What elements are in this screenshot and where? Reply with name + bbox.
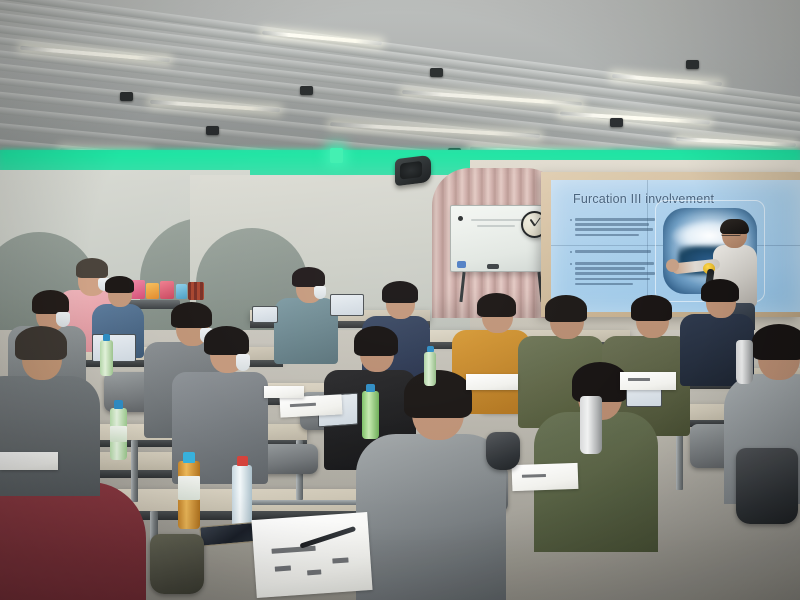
slide-bullet-3 bbox=[575, 262, 657, 288]
laptop[interactable] bbox=[252, 306, 278, 323]
slide-bullet-1 bbox=[575, 218, 657, 239]
laptop[interactable] bbox=[92, 334, 136, 362]
photo-scene: Furcation III involvement bbox=[0, 0, 800, 600]
presenter-hand bbox=[666, 259, 679, 272]
insulated-tumbler[interactable] bbox=[736, 340, 753, 384]
insulated-tumbler[interactable] bbox=[580, 396, 602, 454]
backpack bbox=[150, 534, 204, 594]
handout-paper[interactable] bbox=[264, 386, 304, 398]
ceiling-speaker-icon bbox=[395, 155, 431, 186]
pen[interactable] bbox=[299, 526, 356, 549]
handout-paper[interactable] bbox=[251, 512, 372, 598]
handout-paper[interactable] bbox=[620, 372, 676, 390]
slide-bullet-2 bbox=[575, 250, 657, 255]
backpack bbox=[736, 448, 798, 524]
bag bbox=[486, 432, 520, 470]
handout-paper[interactable] bbox=[512, 463, 579, 491]
exit-sign bbox=[330, 148, 343, 163]
handout-paper[interactable] bbox=[466, 374, 518, 390]
handout-paper[interactable] bbox=[0, 452, 58, 470]
laptop[interactable] bbox=[330, 294, 364, 316]
glasses-icon bbox=[721, 231, 741, 236]
